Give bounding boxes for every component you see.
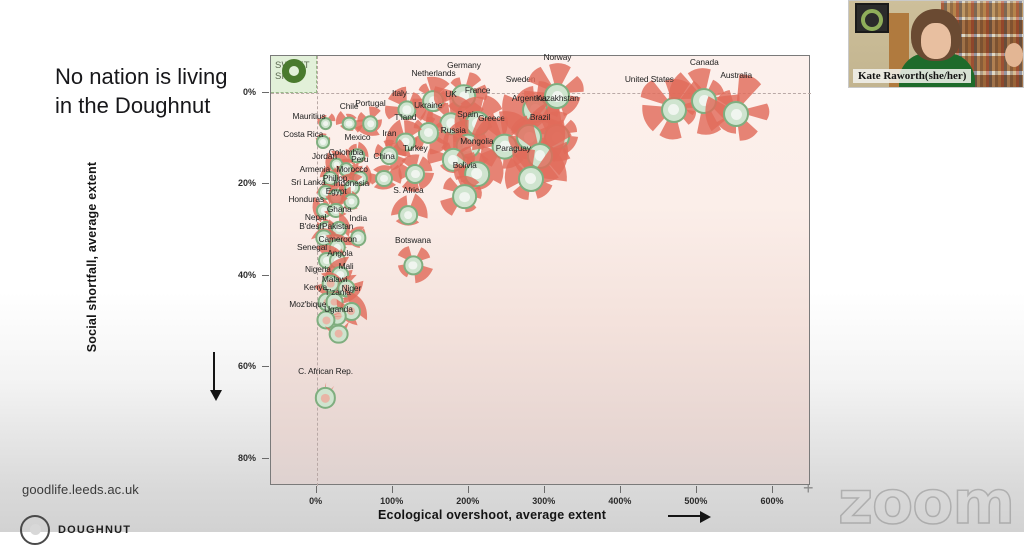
x-tick-mark xyxy=(696,486,697,493)
country-label: Portugal xyxy=(355,98,385,108)
sweet-spot-doughnut-icon xyxy=(282,59,306,83)
y-axis-arrow-icon xyxy=(213,352,215,392)
doughnut-dot-icon xyxy=(362,115,379,132)
wall-art-frame xyxy=(855,3,889,33)
country-label: Cameroon xyxy=(319,234,357,244)
country-label: Pakistan xyxy=(322,221,353,231)
doughnut-dot-icon xyxy=(452,185,477,210)
country-marker xyxy=(435,167,494,226)
y-tick-mark xyxy=(262,275,269,276)
country-label: Brazil xyxy=(530,112,550,122)
country-marker xyxy=(699,77,773,151)
x-tick-label: 100% xyxy=(372,496,412,506)
x-tick-label: 400% xyxy=(600,496,640,506)
country-label: Canada xyxy=(690,57,719,67)
country-label: Botswana xyxy=(395,235,431,245)
country-label: Italy xyxy=(392,88,407,98)
country-label: Angola xyxy=(327,248,352,258)
y-tick-label: 0% xyxy=(220,87,256,97)
country-label: Argentina xyxy=(512,93,547,103)
doughnut-dot-icon xyxy=(518,166,544,192)
speaker-face xyxy=(921,23,951,59)
y-tick-label: 40% xyxy=(220,270,256,280)
x-axis-arrow-icon xyxy=(668,515,702,517)
country-label: Mauritius xyxy=(292,111,325,121)
country-label: Ukraine xyxy=(414,100,442,110)
country-label: Mali xyxy=(339,261,354,271)
country-label: C. African Rep. xyxy=(298,366,353,376)
country-marker xyxy=(316,311,361,356)
country-label: Australia xyxy=(720,70,752,80)
country-label: T'land xyxy=(394,112,416,122)
country-label: Norway xyxy=(544,52,572,62)
doughnut-dot-icon xyxy=(315,387,337,409)
y-tick-mark xyxy=(262,366,269,367)
doughnut-dot-icon xyxy=(329,324,349,344)
y-tick-label: 60% xyxy=(220,361,256,371)
x-tick-label: 200% xyxy=(448,496,488,506)
x-axis-label: Ecological overshoot, average extent xyxy=(378,508,606,522)
x-tick-mark xyxy=(620,486,621,493)
doughnut-dot-icon xyxy=(399,205,419,225)
country-marker xyxy=(300,373,351,424)
country-label: Uganda xyxy=(324,304,353,314)
country-label: Ghana xyxy=(327,204,352,214)
country-label: Mexico xyxy=(344,132,370,142)
x-tick-mark xyxy=(392,486,393,493)
y-tick-label: 80% xyxy=(220,453,256,463)
x-tick-mark xyxy=(544,486,545,493)
y-tick-mark xyxy=(262,92,269,93)
country-label: Mongolia xyxy=(460,136,493,146)
country-label: Egypt xyxy=(326,186,347,196)
country-label: China xyxy=(373,151,394,161)
country-label: Bolivia xyxy=(453,160,477,170)
x-tick-mark xyxy=(772,486,773,493)
country-label: Turkey xyxy=(403,143,428,153)
x-tick-label: 300% xyxy=(524,496,564,506)
y-tick-label: 20% xyxy=(220,178,256,188)
y-tick-mark xyxy=(262,183,269,184)
y-axis-label: Social shortfall, average extent xyxy=(85,157,99,357)
country-label: France xyxy=(465,85,490,95)
country-label: Armenia xyxy=(300,164,331,174)
country-label: Moz'bique xyxy=(289,299,326,309)
country-marker xyxy=(389,242,436,289)
x-tick-label: 0% xyxy=(296,496,336,506)
country-label: Russia xyxy=(441,125,466,135)
x-tick-label: 500% xyxy=(676,496,716,506)
x-tick-mark xyxy=(316,486,317,493)
country-label: S. Africa xyxy=(393,185,423,195)
country-marker xyxy=(385,192,431,238)
country-label: Iran xyxy=(382,128,396,138)
doughnut-dot-icon xyxy=(375,170,393,188)
speaker-hand xyxy=(1005,43,1023,67)
x-tick-mark xyxy=(468,486,469,493)
country-label: Germany xyxy=(447,60,481,70)
webcam-tile[interactable]: Kate Raworth(she/her) xyxy=(848,0,1024,88)
country-label: Costa Rica xyxy=(283,129,323,139)
y-tick-mark xyxy=(262,458,269,459)
slide-canvas: No nation is living in the Doughnut good… xyxy=(0,0,1024,532)
doughnut-dot-icon xyxy=(723,101,749,127)
x-tick-label: 600% xyxy=(752,496,792,506)
participant-name-badge: Kate Raworth(she/her) xyxy=(853,69,971,83)
